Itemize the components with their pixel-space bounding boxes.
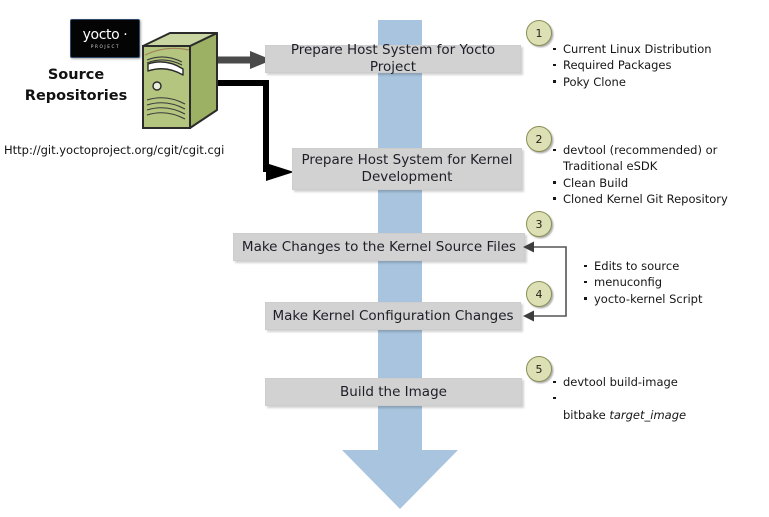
steps-3-4-shared-notes: Edits to source menuconfig yocto-kernel …	[583, 258, 758, 307]
step-4-box[interactable]: Make Kernel Configuration Changes	[265, 302, 521, 330]
source-repositories-url: Http://git.yoctoproject.org/cgit/cgit.cg…	[4, 143, 224, 157]
step-5-notes: devtool build-image bitbake target_image	[552, 374, 752, 423]
step-2-box-label: Prepare Host System for Kernel Developme…	[299, 152, 515, 186]
step-5-box[interactable]: Build the Image	[265, 378, 522, 406]
step-4-number: 4	[536, 288, 543, 301]
source-repositories-label: Source Repositories	[16, 65, 136, 107]
connector-bracket-step3-step4	[520, 238, 576, 324]
yocto-project-logo: yocto · PROJECT	[70, 19, 140, 58]
yocto-logo-submark: PROJECT	[91, 45, 120, 49]
shared-note: yocto-kernel Script	[583, 291, 758, 307]
step-1-note: Current Linux Distribution	[552, 41, 752, 57]
step-1-number: 1	[536, 27, 543, 40]
step-2-box[interactable]: Prepare Host System for Kernel Developme…	[292, 148, 522, 190]
step-2-note: Cloned Kernel Git Repository	[552, 191, 757, 207]
step-2-note: Clean Build	[552, 175, 757, 191]
step-5-box-label: Build the Image	[340, 384, 447, 401]
step-5-badge: 5	[526, 356, 552, 382]
step-3-box-label: Make Changes to the Kernel Source Files	[242, 239, 516, 256]
step-5-note: devtool build-image	[552, 374, 752, 390]
shared-note: menuconfig	[583, 274, 758, 290]
step-1-badge: 1	[526, 20, 552, 46]
step-2-badge: 2	[526, 126, 552, 152]
step-3-badge: 3	[526, 211, 552, 237]
shared-note: Edits to source	[583, 258, 758, 274]
step-5-note-prefix: bitbake	[563, 408, 609, 422]
step-3-box[interactable]: Make Changes to the Kernel Source Files	[233, 233, 525, 261]
step-4-badge: 4	[526, 281, 552, 307]
flow-arrow-background	[340, 20, 460, 510]
yocto-logo-wordmark: yocto ·	[83, 28, 128, 42]
step-5-number: 5	[536, 363, 543, 376]
step-5-note-italic: bitbake target_image	[552, 390, 752, 423]
step-3-number: 3	[536, 218, 543, 231]
step-2-notes: devtool (recommended) or Traditional eSD…	[552, 142, 757, 207]
connector-server-to-step2	[214, 78, 304, 183]
step-1-notes: Current Linux Distribution Required Pack…	[552, 41, 752, 90]
diagram-canvas: yocto · PROJECT Source Repositories Http…	[0, 0, 769, 517]
step-1-box[interactable]: Prepare Host System for Yocto Project	[265, 45, 521, 73]
server-tower-icon	[133, 28, 219, 138]
step-2-note: devtool (recommended) or Traditional eSD…	[552, 142, 757, 175]
step-5-note-emphasis: target_image	[609, 408, 686, 422]
step-1-note: Poky Clone	[552, 74, 752, 90]
step-1-box-label: Prepare Host System for Yocto Project	[272, 42, 514, 76]
step-2-number: 2	[536, 133, 543, 146]
step-1-note: Required Packages	[552, 57, 752, 73]
step-4-box-label: Make Kernel Configuration Changes	[272, 308, 513, 325]
